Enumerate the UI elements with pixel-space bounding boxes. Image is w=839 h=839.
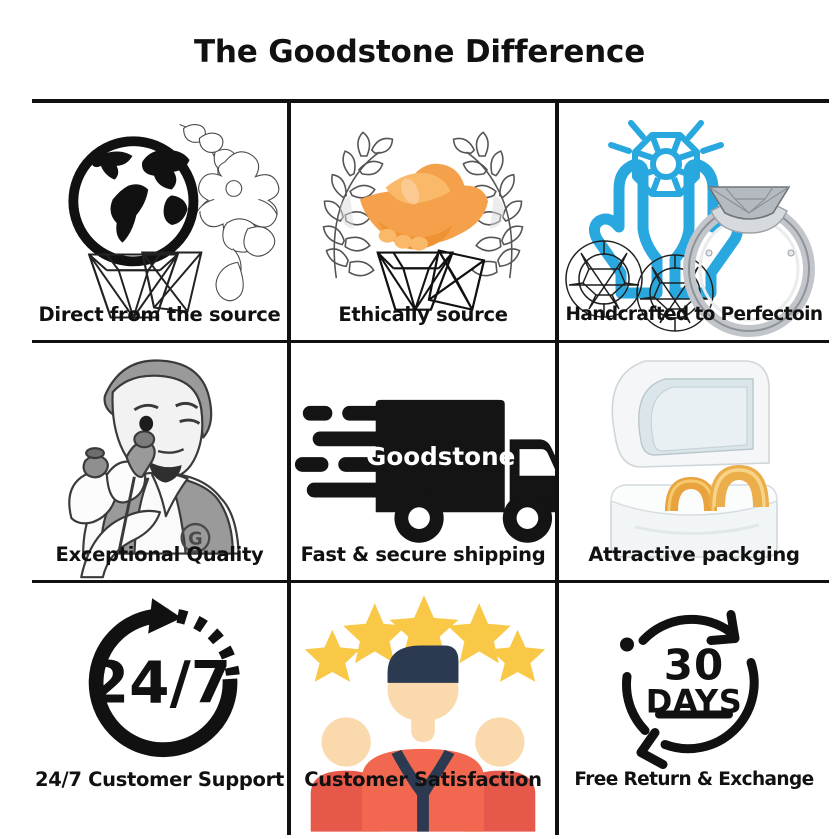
feature-label: Ethically source (338, 305, 507, 341)
feature-label: Exceptional Quality (56, 545, 264, 581)
icon-text-247: 24/7 (89, 649, 231, 717)
feature-label: Free Return & Exchange (574, 771, 813, 836)
feature-cell-exceptional-quality[interactable]: G Exceptional Quality (32, 343, 291, 580)
feature-cell-fast-shipping[interactable]: Goodstone Fast & secure shipping (291, 343, 559, 580)
feature-label: Customer Satisfaction (304, 770, 541, 836)
feature-label: Attractive packging (588, 545, 799, 581)
infographic-page: The Goodstone Difference (0, 0, 839, 839)
feature-label: 24/7 Customer Support (35, 770, 284, 836)
feature-row-2: G Exceptional Quality (32, 343, 829, 583)
feature-row-1: Direct from the source (32, 103, 829, 343)
feature-grid: Direct from the source (32, 99, 829, 839)
feature-label: Handcrafted to Perfectoin (566, 306, 823, 341)
feature-row-3: 24/7 24/7 Customer Support (32, 583, 829, 835)
icon-text-days: DAYS (646, 683, 742, 721)
feature-cell-ethically-source[interactable]: Ethically source (291, 103, 559, 340)
feature-cell-attractive-packaging[interactable]: Attractive packging (559, 343, 829, 580)
feature-cell-handcrafted[interactable]: Handcrafted to Perfectoin (559, 103, 829, 340)
feature-label: Direct from the source (39, 305, 281, 341)
feature-cell-customer-satisfaction[interactable]: Customer Satisfaction (291, 583, 559, 835)
feature-cell-free-return[interactable]: 30 DAYS Free Return & Exchange (559, 583, 829, 835)
page-title: The Goodstone Difference (0, 34, 839, 70)
feature-label: Fast & secure shipping (301, 545, 546, 581)
truck-wordmark: Goodstone (366, 442, 515, 471)
feature-cell-direct-from-source[interactable]: Direct from the source (32, 103, 291, 340)
icon-text-30: 30 (664, 641, 724, 690)
feature-cell-customer-support[interactable]: 24/7 24/7 Customer Support (32, 583, 291, 835)
